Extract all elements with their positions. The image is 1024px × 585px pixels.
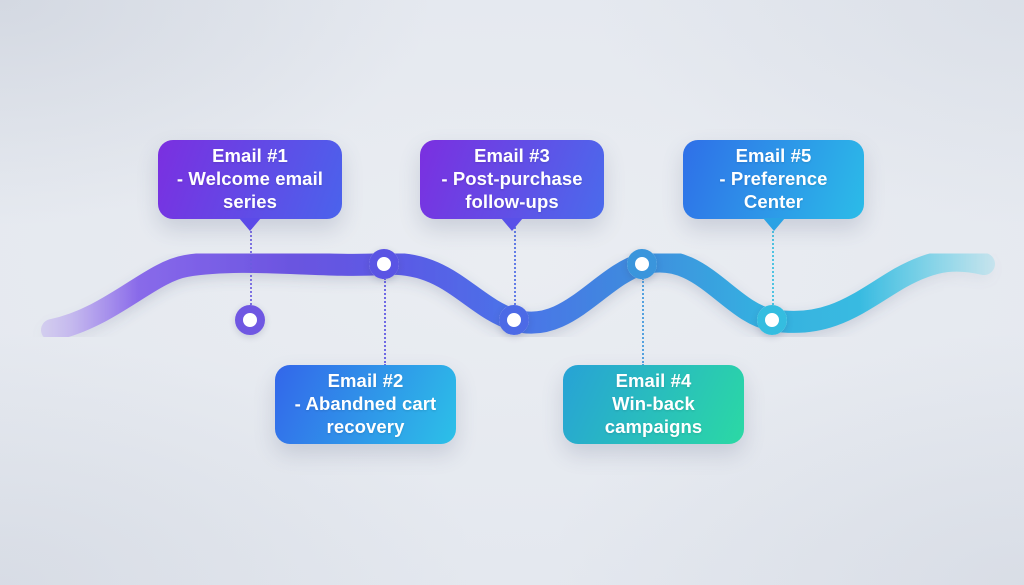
node-email-4-ring [627, 249, 657, 279]
email-journey-wave [0, 0, 1024, 585]
card-email-1-line-3: series [223, 191, 277, 214]
card-email-5-tail [763, 218, 785, 231]
connector-email-1 [250, 219, 252, 305]
card-email-3-line-3: follow-ups [465, 191, 558, 214]
card-email-5-line-1: Email #5 [736, 145, 812, 168]
node-email-4[interactable] [627, 249, 657, 279]
node-email-5[interactable] [757, 305, 787, 335]
card-email-5[interactable]: Email #5 - Preference Center [683, 140, 864, 219]
card-email-3[interactable]: Email #3 - Post-purchase follow-ups [420, 140, 604, 219]
card-email-5-line-3: Center [744, 191, 803, 214]
card-email-2[interactable]: Email #2 - Abandned cart recovery [275, 365, 456, 444]
card-email-2-line-2: - Abandned cart [295, 393, 437, 416]
card-email-2-line-1: Email #2 [328, 370, 404, 393]
node-email-3[interactable] [499, 305, 529, 335]
card-email-4-line-1: Email #4 [616, 370, 692, 393]
node-email-5-ring [757, 305, 787, 335]
node-email-2-ring [369, 249, 399, 279]
connector-email-5 [772, 219, 774, 305]
diagram-canvas: Email #1 - Welcome email series Email #2… [0, 0, 1024, 585]
card-email-3-tail [501, 218, 523, 231]
card-email-5-line-2: - Preference [719, 168, 827, 191]
node-email-2[interactable] [369, 249, 399, 279]
card-email-1-line-2: - Welcome email [177, 168, 323, 191]
card-email-3-line-2: - Post-purchase [441, 168, 582, 191]
node-email-1-ring [235, 305, 265, 335]
card-email-4-line-3: campaigns [605, 416, 703, 439]
card-email-4-line-2: Win-back [612, 393, 695, 416]
node-email-3-ring [499, 305, 529, 335]
card-email-1-line-1: Email #1 [212, 145, 288, 168]
connector-email-2 [384, 278, 386, 366]
card-email-1-tail [239, 218, 261, 231]
node-email-1[interactable] [235, 305, 265, 335]
connector-email-3 [514, 219, 516, 305]
card-email-4[interactable]: Email #4 Win-back campaigns [563, 365, 744, 444]
connector-email-4 [642, 278, 644, 366]
card-email-1[interactable]: Email #1 - Welcome email series [158, 140, 342, 219]
card-email-3-line-1: Email #3 [474, 145, 550, 168]
card-email-2-line-3: recovery [327, 416, 405, 439]
